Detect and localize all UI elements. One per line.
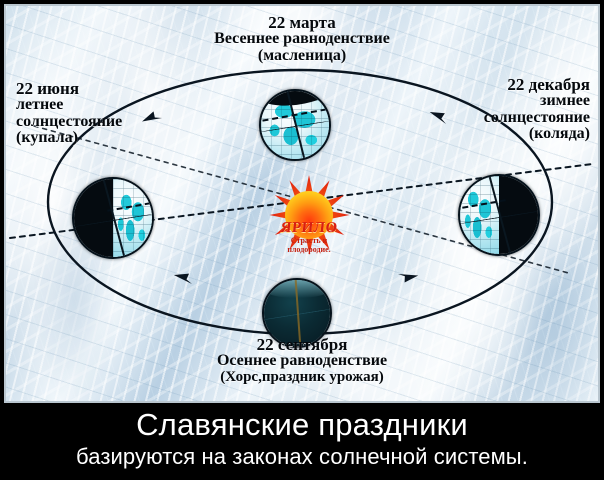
orbit-arrow-upper-right [428,109,449,124]
caption-subtitle: базируются на законах солнечной системы. [0,443,604,470]
label-winter-date: 22 декабря [484,76,590,93]
label-autumn-holiday: (Хорс,праздник урожая) [6,370,598,385]
label-autumn-date: 22 сентября [6,336,598,353]
orbit-arrow-lower-left [173,272,193,284]
label-summer-solstice: 22 июня летнее солнцестояние (купала) [16,80,122,146]
diagram-frame: ЯРИЛО Страсть и плодородие. 22 марта Вес… [4,4,600,403]
label-spring-equinox: 22 марта Весеннее равноденствие (маслени… [6,14,598,64]
label-spring-event: Весеннее равноденствие [6,31,598,47]
orbit-arrow-lower-right [398,269,419,284]
earth-globe-summer [72,177,154,259]
earth-globe-spring [259,89,331,161]
label-winter-solstice: 22 декабря зимнее солнцестояние (коляда) [484,76,590,142]
earth-globe-winter [458,174,540,256]
sun-subtitle: Страсть и плодородие. [246,236,372,254]
orbit-arrow-upper-left [141,109,162,127]
label-spring-holiday: (масленица) [6,48,598,64]
label-summer-season: летнее [16,97,122,113]
label-winter-season: зимнее [484,93,590,109]
label-summer-holiday: (купала) [16,130,122,146]
sun-subtitle-line1: Страсть и [246,236,372,245]
poster: ЯРИЛО Страсть и плодородие. 22 марта Вес… [0,0,604,480]
label-summer-date: 22 июня [16,80,122,97]
label-winter-event: солнцестояние [484,110,590,126]
sun-subtitle-line2: плодородие. [246,245,372,254]
sun-emblem: ЯРИЛО Страсть и плодородие. [268,174,350,256]
label-autumn-equinox: 22 сентября Осеннее равноденствие (Хорс,… [6,336,598,385]
caption-bar: Славянские праздники базируются на закон… [0,403,604,480]
label-summer-event: солнцестояние [16,114,122,130]
label-spring-date: 22 марта [6,14,598,31]
label-autumn-event: Осеннее равноденствие [6,353,598,369]
caption-title: Славянские праздники [0,403,604,443]
sun-name: ЯРИЛО [267,220,351,237]
label-winter-holiday: (коляда) [484,126,590,142]
